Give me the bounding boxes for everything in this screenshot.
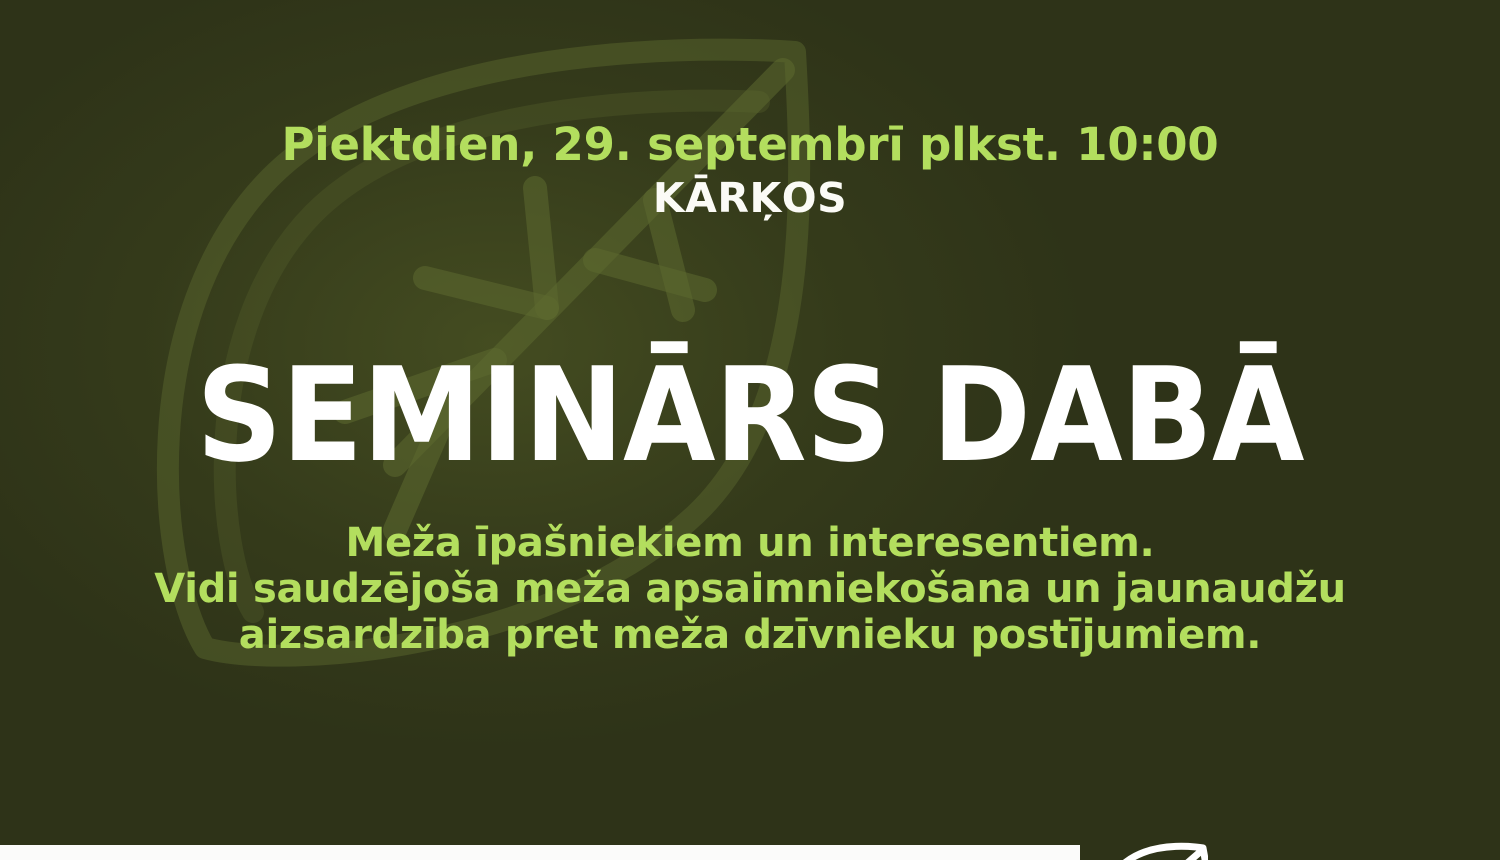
event-datetime: Piektdien, 29. septembrī plkst. 10:00 (281, 122, 1218, 169)
event-location: KĀRĶOS (653, 177, 847, 220)
footer-white-band (0, 845, 1080, 860)
poster-canvas: Piektdien, 29. septembrī plkst. 10:00 KĀ… (0, 0, 1500, 860)
description-line: aizsardzība pret meža dzīvnieku postījum… (154, 612, 1346, 658)
description-line: Vidi saudzējoša meža apsaimniekošana un … (154, 566, 1346, 612)
poster-content: Piektdien, 29. septembrī plkst. 10:00 KĀ… (0, 0, 1500, 860)
description-line: Meža īpašniekiem un interesentiem. (154, 520, 1346, 566)
event-description: Meža īpašniekiem un interesentiem. Vidi … (154, 520, 1346, 659)
page-title: SEMINĀRS DABĀ (196, 360, 1303, 472)
